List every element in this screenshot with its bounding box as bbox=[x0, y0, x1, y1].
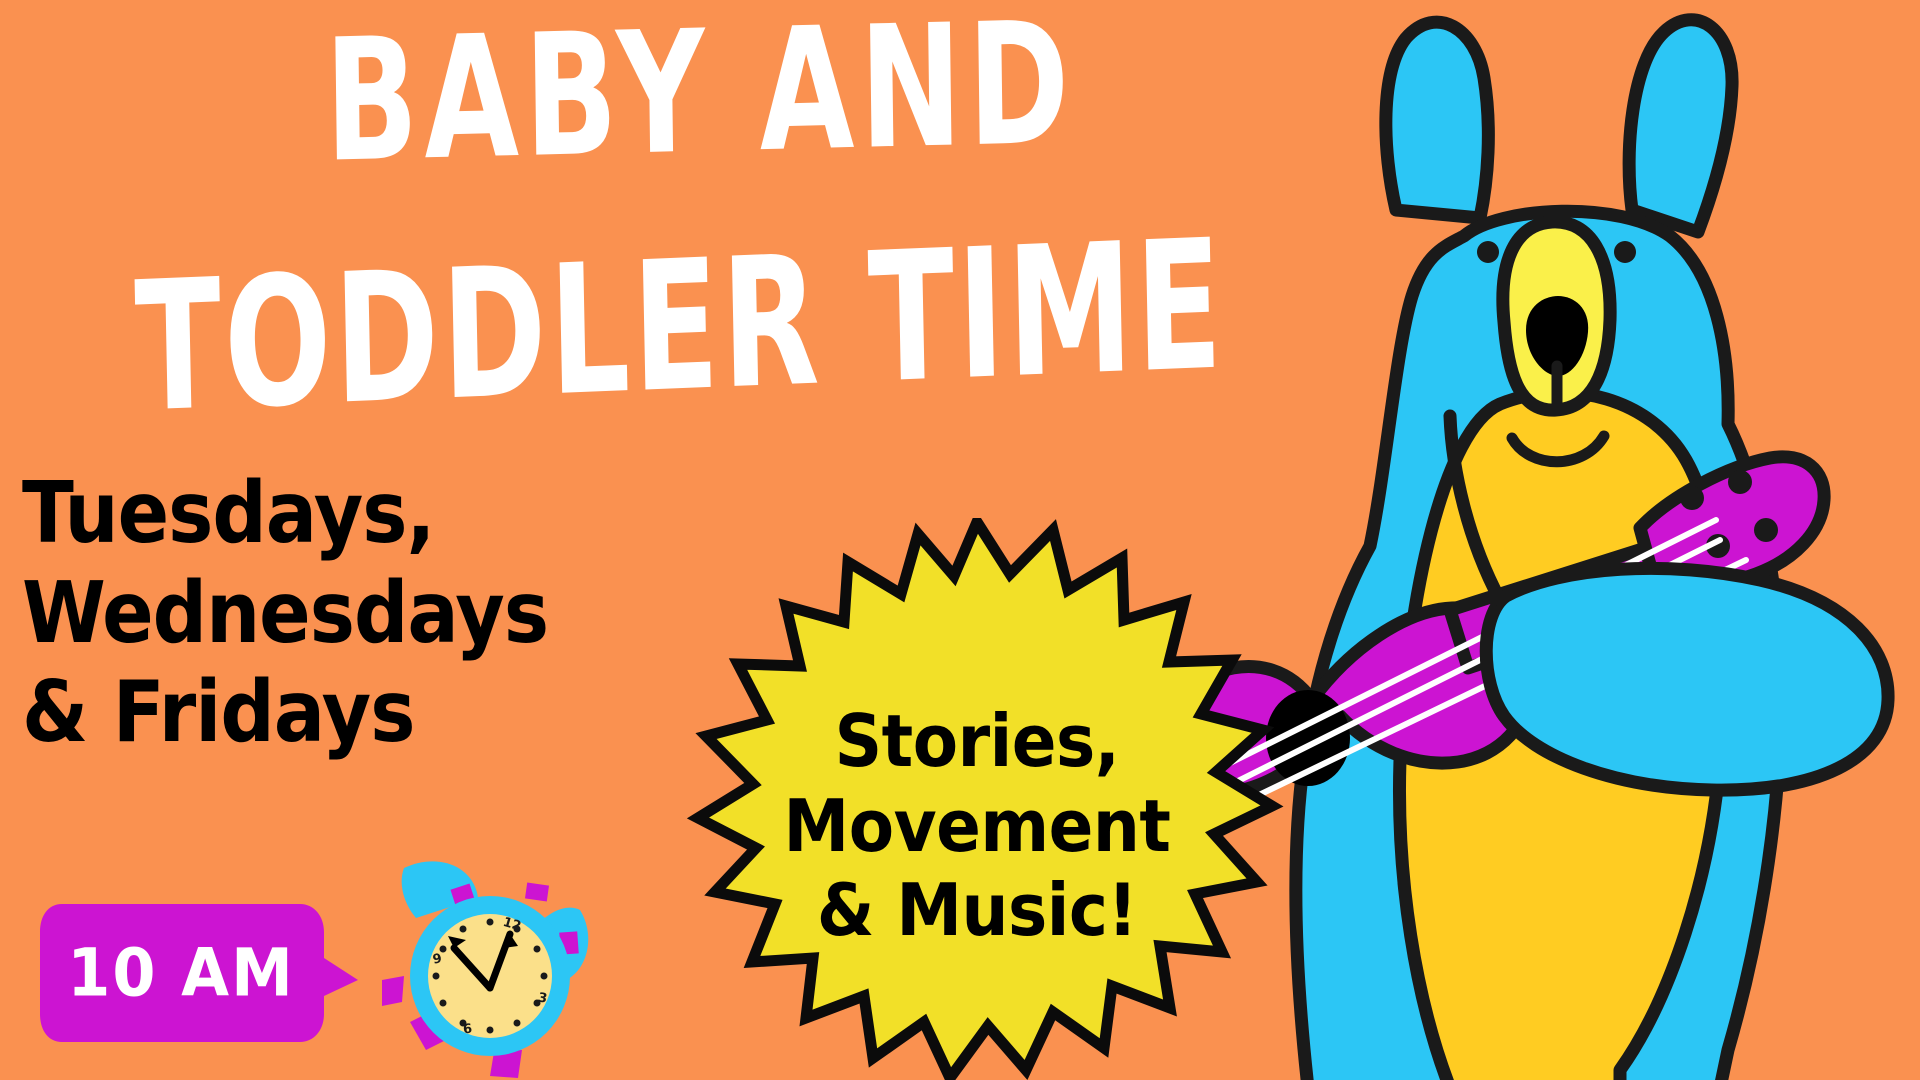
ukulele-headstock bbox=[1640, 457, 1824, 584]
bear-shoulder-line bbox=[1450, 416, 1500, 600]
bear-body bbox=[1296, 211, 1781, 1080]
bear-smile bbox=[1512, 436, 1604, 462]
clock-face bbox=[428, 914, 552, 1038]
title-line-2-text: TODDLER TIME bbox=[133, 200, 1226, 452]
ukulele-neck bbox=[1450, 546, 1678, 668]
bear-arm bbox=[1486, 568, 1888, 790]
title-line-1-text: BABY AND bbox=[324, 0, 1077, 200]
schedule-day-line: Wednesdays bbox=[22, 562, 662, 662]
schedule-days: Tuesdays, Wednesdays & Fridays bbox=[22, 468, 662, 767]
title-line-2: TODDLER TIME bbox=[0, 211, 1361, 444]
alarm-clock-icon: 12 3 6 9 bbox=[382, 856, 598, 1080]
title-line-1: BABY AND bbox=[59, 0, 1341, 193]
bear-eye-left bbox=[1477, 241, 1499, 263]
clock-bell-stem-right bbox=[525, 883, 549, 902]
starburst-line: Stories, bbox=[835, 698, 1120, 787]
starburst-line: & Music! bbox=[817, 867, 1137, 956]
tuning-peg-2 bbox=[1728, 470, 1752, 494]
bear-muzzle bbox=[1503, 222, 1610, 410]
poster-canvas: BABY AND TODDLER TIME Tuesdays, Wednesda… bbox=[0, 0, 1920, 1080]
bear-belly bbox=[1399, 392, 1723, 1080]
bear-ear-right bbox=[1629, 20, 1732, 232]
starburst-text-block: Stories, Movement & Music! bbox=[612, 518, 1342, 1080]
time-speech-bubble: 10 AM bbox=[38, 896, 360, 1048]
bear-nose bbox=[1526, 296, 1588, 376]
page-title: BABY AND TODDLER TIME bbox=[0, 30, 1360, 390]
bear-eye-right bbox=[1614, 241, 1636, 263]
clock-foot-back bbox=[382, 976, 404, 1006]
tuning-peg-3 bbox=[1706, 534, 1730, 558]
clock-numeral: 6 bbox=[462, 1022, 473, 1038]
tuning-peg-4 bbox=[1754, 518, 1778, 542]
bear-ear-left bbox=[1386, 22, 1489, 218]
starburst-line: Movement bbox=[784, 783, 1171, 872]
starburst-badge: Stories, Movement & Music! bbox=[612, 518, 1342, 1080]
schedule-day-line: Tuesdays, bbox=[22, 463, 662, 563]
schedule-day-line: & Fridays bbox=[22, 662, 662, 762]
time-label: 10 AM bbox=[38, 891, 324, 1052]
tuning-peg-1 bbox=[1680, 486, 1704, 510]
